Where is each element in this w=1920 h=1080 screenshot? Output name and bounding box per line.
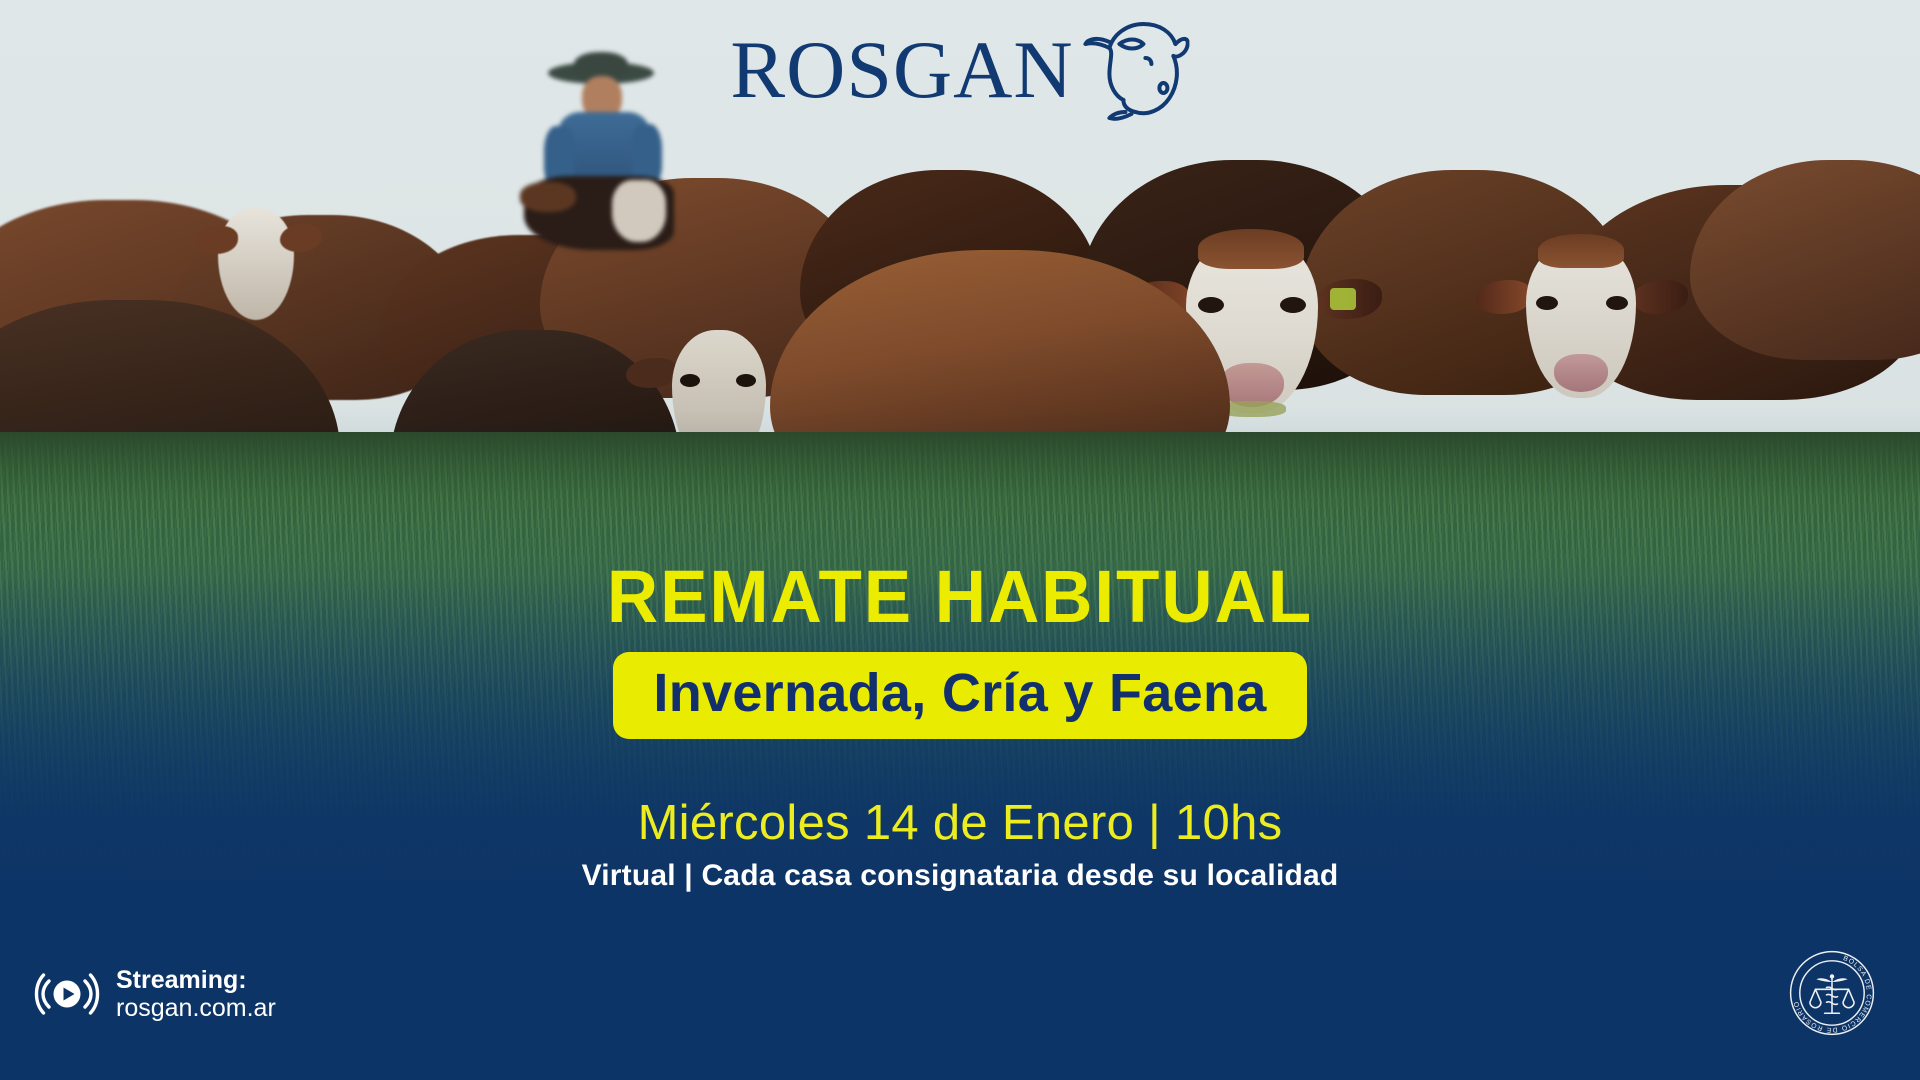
event-venue: Virtual | Cada casa consignataria desde … [0,859,1920,893]
hereford-head [1512,240,1652,420]
streaming-text: Streaming: rosgan.com.ar [116,966,276,1022]
gaucho-on-horseback [520,60,680,250]
page-title: REMATE HABITUAL [38,560,1881,634]
streaming-label: Streaming: [116,966,276,994]
broadcast-play-icon [34,966,100,1022]
category-badge-wrap: Invernada, Cría y Faena [0,652,1920,739]
hero-photo [0,0,1920,1080]
streaming-url[interactable]: rosgan.com.ar [116,994,276,1022]
hero-content: REMATE HABITUAL Invernada, Cría y Faena … [0,560,1920,893]
rosgan-wordmark: ROSGAN [730,31,1073,109]
bolsa-de-comercio-seal-icon: BOLSA DE COMERCIO DE ROSARIO [1786,947,1878,1039]
cattle-ear-tag [1330,288,1356,310]
bolsa-de-comercio-seal: BOLSA DE COMERCIO DE ROSARIO [1786,947,1878,1044]
event-date: Miércoles 14 de Enero | 10hs [0,797,1920,851]
cow-head-icon [1080,14,1190,126]
promo-poster: ROSGAN REMATE HABITUAL Invernada, Cría y… [0,0,1920,1080]
rosgan-logo[interactable]: ROSGAN [730,14,1189,126]
streaming-info[interactable]: Streaming: rosgan.com.ar [34,966,276,1022]
category-badge: Invernada, Cría y Faena [613,652,1306,739]
